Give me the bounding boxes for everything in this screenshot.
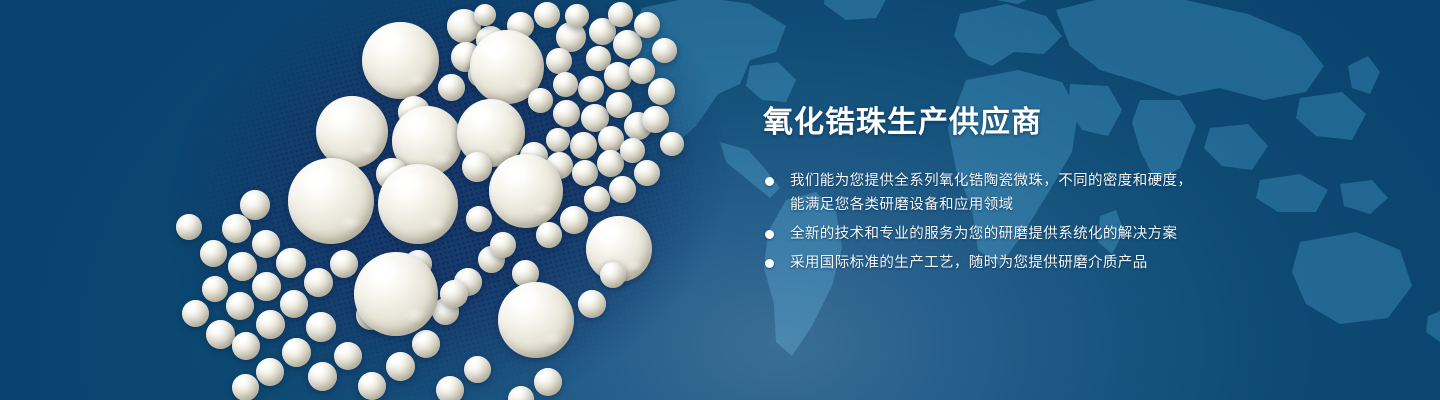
hero-banner: 氧化锆珠生产供应商 我们能为您提供全系列氧化锆陶瓷微珠，不同的密度和硬度，能满足… — [0, 0, 1440, 400]
bullet-dot-icon — [765, 230, 774, 239]
feature-text-line: 能满足您各类研磨设备和应用领域 — [790, 193, 1323, 217]
feature-list-item: 我们能为您提供全系列氧化锆陶瓷微珠，不同的密度和硬度，能满足您各类研磨设备和应用… — [763, 169, 1323, 217]
feature-text-line: 我们能为您提供全系列氧化锆陶瓷微珠，不同的密度和硬度， — [790, 169, 1323, 193]
feature-text-line: 全新的技术和专业的服务为您的研磨提供系统化的解决方案 — [790, 222, 1323, 246]
halftone-backdrop — [101, 0, 780, 400]
banner-headline: 氧化锆珠生产供应商 — [763, 103, 1323, 143]
feature-list-item: 采用国际标准的生产工艺，随时为您提供研磨介质产品 — [763, 251, 1323, 275]
bullet-dot-icon — [765, 177, 774, 186]
banner-copy: 氧化锆珠生产供应商 我们能为您提供全系列氧化锆陶瓷微珠，不同的密度和硬度，能满足… — [763, 103, 1323, 280]
feature-text-line: 采用国际标准的生产工艺，随时为您提供研磨介质产品 — [790, 251, 1323, 275]
feature-list-item: 全新的技术和专业的服务为您的研磨提供系统化的解决方案 — [763, 222, 1323, 246]
bullet-dot-icon — [765, 259, 774, 268]
banner-feature-list: 我们能为您提供全系列氧化锆陶瓷微珠，不同的密度和硬度，能满足您各类研磨设备和应用… — [763, 169, 1323, 275]
